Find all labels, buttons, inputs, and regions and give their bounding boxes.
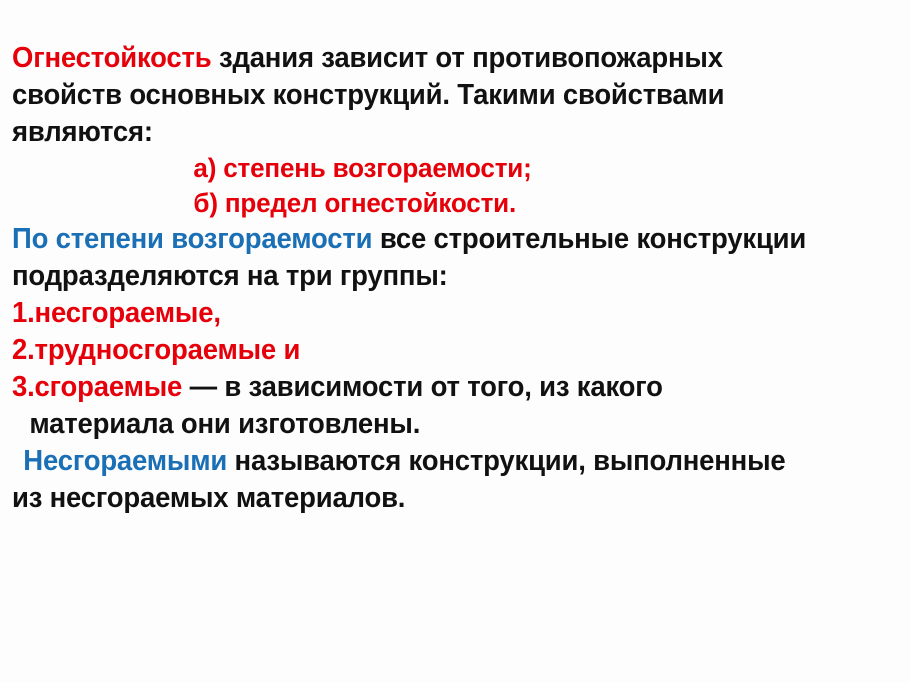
text-line-3: являются: [12, 114, 871, 151]
list-item-1-text: 1.несгораемые, [12, 297, 221, 329]
list-item-3-continuation-text: материала они изготовлены. [29, 408, 420, 440]
list-item-3-term: 3.сгораемые [12, 371, 182, 403]
text-line-2: свойств основных конструкций. Такими сво… [12, 77, 871, 114]
text-line-6-rest: называются конструкции, выполненные [227, 445, 785, 477]
item-b-text: б) предел огнестойкости. [193, 188, 516, 218]
text-line-7-text: из несгораемых материалов. [12, 482, 405, 514]
text-line-1: Огнестойкость здания зависит от противоп… [12, 40, 871, 77]
text-line-1-rest: здания зависит от противопожарных [212, 42, 723, 74]
text-line-5-text: подразделяются на три группы: [12, 260, 448, 292]
list-item-3: 3.сгораемые — в зависимости от того, из … [12, 369, 871, 406]
text-line-3-text: являются: [12, 116, 153, 148]
term-ognestoykost: Огнестойкость [12, 42, 212, 74]
term-po-stepeni-vozgoraemosti: По степени возгораемости [12, 223, 372, 255]
text-line-7: из несгораемых материалов. [12, 480, 871, 517]
list-item-3-rest: — в зависимости от того, из какого [182, 371, 663, 403]
list-item-3-continuation: материала они изготовлены. [12, 406, 871, 443]
slide-canvas: Огнестойкость здания зависит от противоп… [0, 0, 910, 683]
text-line-6: Несгораемыми называются конструкции, вып… [12, 443, 871, 480]
text-line-item-a: а) степень возгораемости; [12, 151, 871, 186]
item-a-text: а) степень возгораемости; [193, 153, 531, 183]
text-line-item-b: б) предел огнестойкости. [12, 186, 871, 221]
term-nesgoraemymi: Несгораемыми [16, 445, 227, 477]
slide-text-body: Огнестойкость здания зависит от противоп… [12, 40, 902, 517]
text-line-4-rest: все строительные конструкции [372, 223, 806, 255]
text-line-2-text: свойств основных конструкций. Такими сво… [12, 79, 724, 111]
text-line-4: По степени возгораемости все строительны… [12, 221, 871, 258]
list-item-2-text: 2.трудносгораемые и [12, 334, 300, 366]
text-line-5: подразделяются на три группы: [12, 258, 871, 295]
list-item-2: 2.трудносгораемые и [12, 332, 871, 369]
list-item-1: 1.несгораемые, [12, 295, 871, 332]
